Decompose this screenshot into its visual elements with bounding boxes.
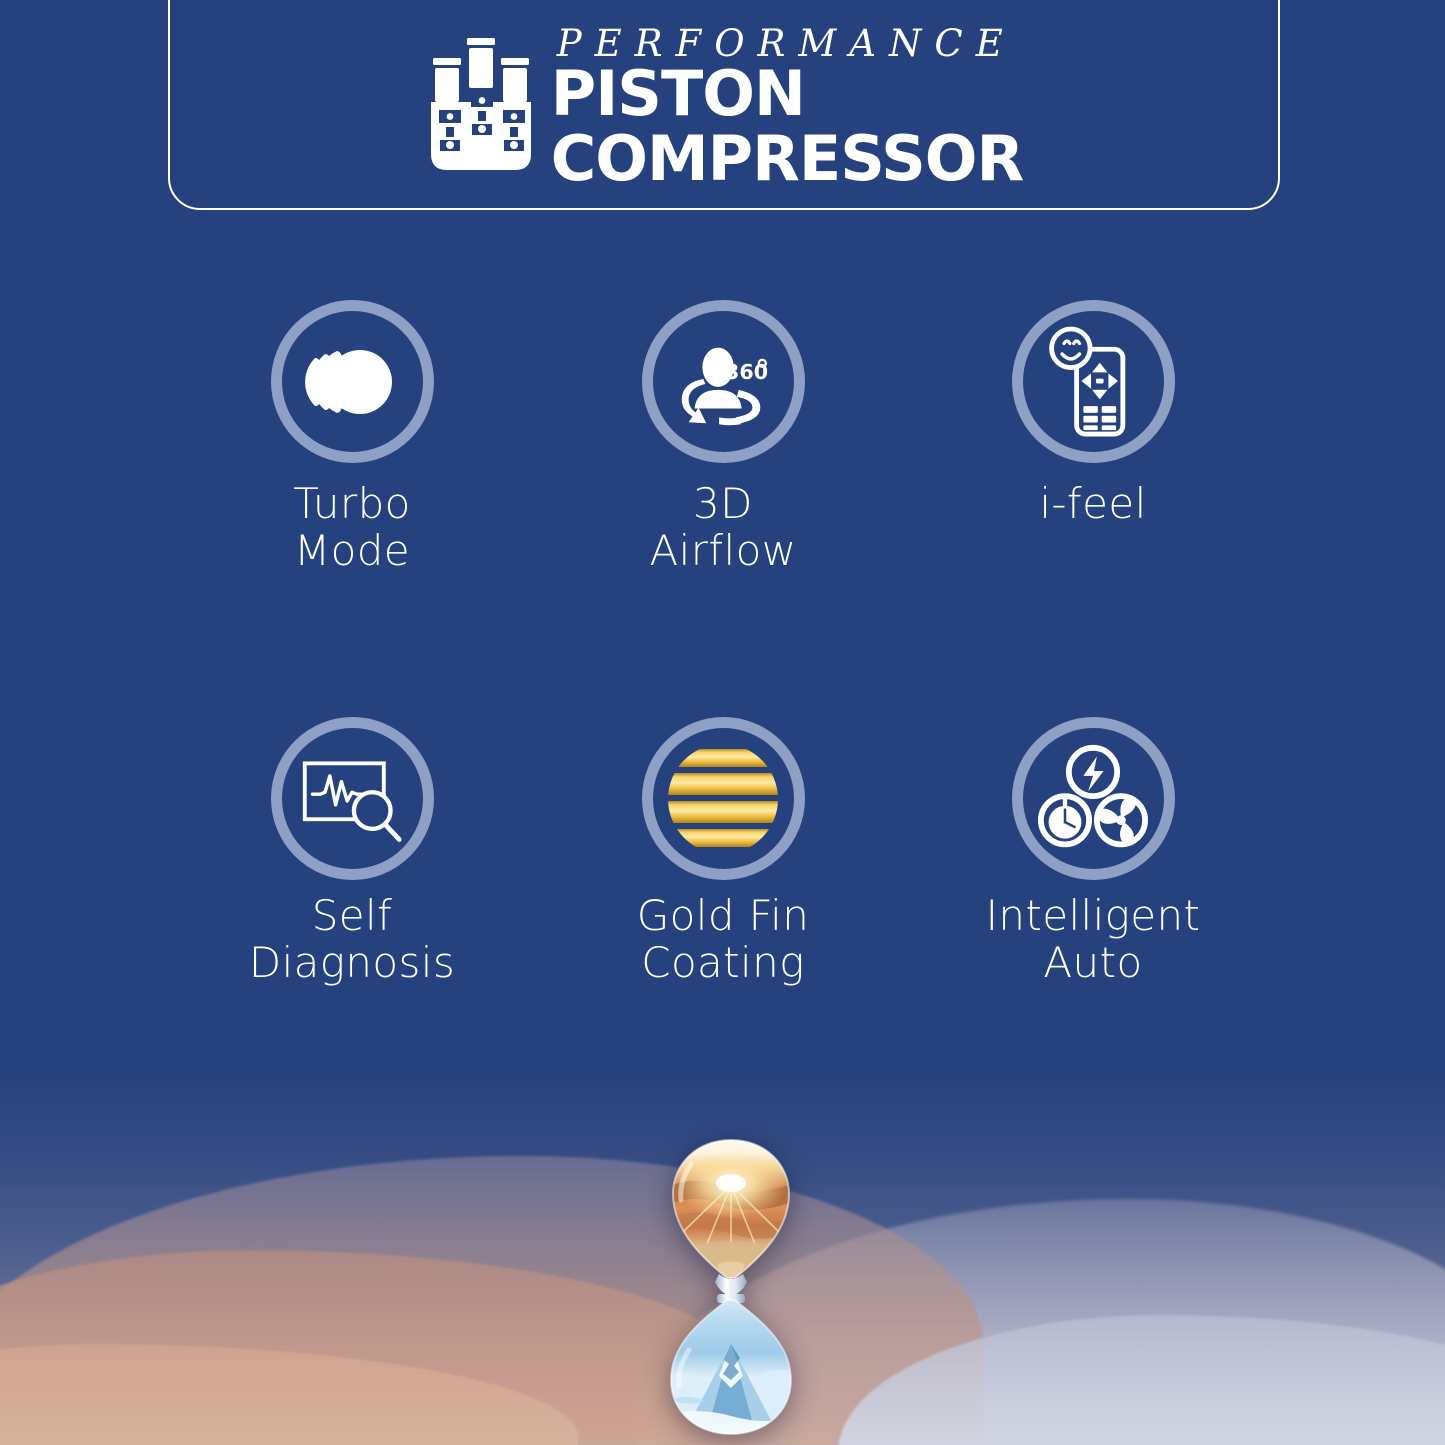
person-360-rotation-icon: 360 <box>664 328 782 436</box>
remote-smiley-icon <box>1040 325 1146 439</box>
feature-grid: Turbo Mode <box>0 300 1445 986</box>
hourglass-desert-to-snow-icon <box>661 1128 801 1445</box>
feature-icon-ring: 360 <box>642 300 805 463</box>
feature-icon-ring <box>1012 300 1175 463</box>
feature-turbo-mode[interactable]: Turbo Mode <box>167 300 537 574</box>
feature-label: i-feel <box>1039 480 1146 527</box>
piston-block-icon <box>425 32 537 182</box>
brand-lockup: PERFORMANCE PISTON COMPRESSOR <box>425 25 1023 189</box>
feature-icon-ring <box>271 300 434 463</box>
gold-fin-circle-icon <box>663 739 783 859</box>
feature-label: 3D Airflow <box>650 480 797 574</box>
feature-row-2: Self Diagnosis <box>0 717 1445 986</box>
brand-title-line2: COMPRESSOR <box>551 130 1023 189</box>
brand-title-line1: PISTON <box>551 65 805 124</box>
feature-3d-airflow[interactable]: 360 3D Airflow <box>538 300 908 574</box>
monitor-waveform-magnifier-icon <box>295 746 409 852</box>
feature-icon-ring <box>271 717 434 880</box>
feature-intelligent-auto[interactable]: Intelligent Auto <box>908 717 1278 986</box>
feature-label: Intelligent Auto <box>986 892 1201 986</box>
feature-label: Self Diagnosis <box>249 892 455 986</box>
feature-icon-ring <box>642 717 805 880</box>
feature-row-1: Turbo Mode <box>0 300 1445 574</box>
feature-i-feel[interactable]: i-feel <box>908 300 1278 574</box>
turbo-speed-icon <box>297 327 407 437</box>
feature-label: Turbo Mode <box>293 480 411 574</box>
header: PERFORMANCE PISTON COMPRESSOR <box>168 0 1280 210</box>
feature-label: Gold Fin Coating <box>637 892 810 986</box>
feature-self-diagnosis[interactable]: Self Diagnosis <box>167 717 537 986</box>
svg-text:360: 360 <box>725 360 768 384</box>
feature-icon-ring <box>1012 717 1175 880</box>
feature-gold-fin-coating[interactable]: Gold Fin Coating <box>538 717 908 986</box>
wordmark: PERFORMANCE PISTON COMPRESSOR <box>551 25 1023 189</box>
bolt-timer-fan-icon <box>1035 743 1151 855</box>
